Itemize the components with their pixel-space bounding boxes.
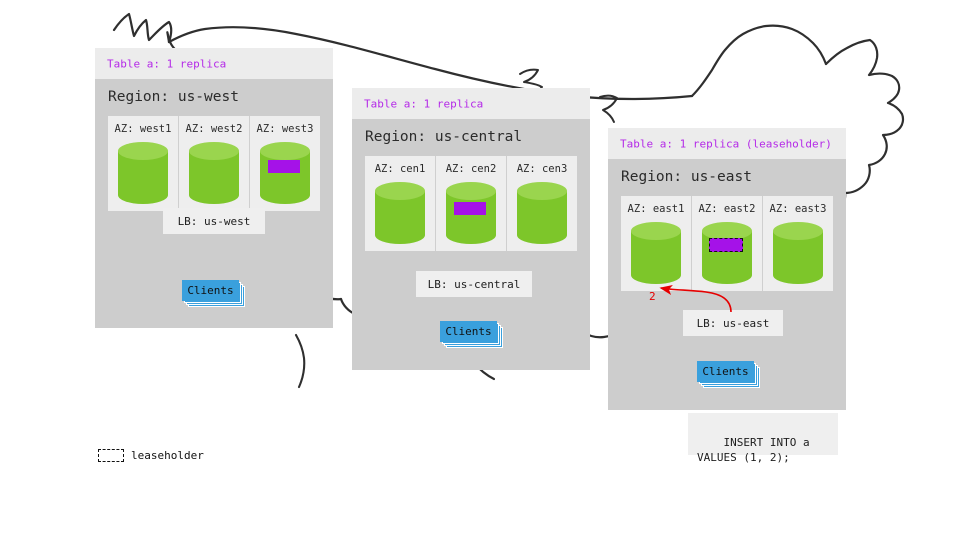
az-cell-east3[interactable]: AZ: east3 (762, 196, 833, 291)
node-cylinder-west3[interactable] (260, 142, 310, 204)
table-replica-label: Table a: 1 replica (364, 97, 483, 110)
az-label: AZ: west3 (250, 123, 320, 135)
region-title: Region: us-west (108, 89, 239, 105)
arrow-step-label: 2 (649, 290, 656, 303)
table-replica-label: Table a: 1 replica (leaseholder) (620, 137, 832, 150)
sql-statement-box: INSERT INTO a VALUES (1, 2); (688, 413, 838, 455)
clients-label: Clients (187, 284, 233, 297)
table-replica-label: Table a: 1 replica (107, 57, 226, 70)
node-cylinder-east2[interactable] (702, 222, 752, 284)
az-cell-cen3[interactable]: AZ: cen3 (506, 156, 577, 251)
region-panel-us-east: Table a: 1 replica (leaseholder) Region:… (608, 128, 846, 410)
az-strip-us-east: AZ: east1 AZ: east2 (621, 196, 833, 291)
clients-button[interactable]: Clients (697, 361, 754, 382)
az-label: AZ: cen2 (436, 163, 506, 175)
clients-label: Clients (445, 325, 491, 338)
clients-button[interactable]: Clients (440, 321, 497, 342)
node-cylinder-west1[interactable] (118, 142, 168, 204)
az-label: AZ: east2 (692, 203, 762, 215)
az-cell-cen1[interactable]: AZ: cen1 (365, 156, 435, 251)
replica-marker (454, 202, 486, 215)
leaseholder-swatch-icon (98, 449, 124, 462)
node-cylinder-cen2[interactable] (446, 182, 496, 244)
region-panel-us-west: Table a: 1 replica Region: us-west AZ: w… (95, 48, 333, 328)
panel-header-us-east: Table a: 1 replica (leaseholder) (608, 128, 846, 159)
diagram-canvas: Table a: 1 replica Region: us-west AZ: w… (0, 0, 960, 540)
replica-marker (268, 160, 300, 173)
legend-label: leaseholder (131, 449, 204, 462)
replica-marker-leaseholder (709, 238, 743, 252)
az-cell-cen2[interactable]: AZ: cen2 (435, 156, 506, 251)
cylinder-top (631, 222, 681, 240)
az-label: AZ: east1 (621, 203, 691, 215)
cylinder-top (189, 142, 239, 160)
az-label: AZ: cen1 (365, 163, 435, 175)
az-label: AZ: cen3 (507, 163, 577, 175)
az-cell-east2[interactable]: AZ: east2 (691, 196, 762, 291)
cylinder-top (517, 182, 567, 200)
panel-header-us-central: Table a: 1 replica (352, 88, 590, 119)
cylinder-top (446, 182, 496, 200)
az-label: AZ: west1 (108, 123, 178, 135)
az-cell-west3[interactable]: AZ: west3 (249, 116, 320, 211)
clients-label: Clients (702, 365, 748, 378)
cylinder-top (773, 222, 823, 240)
clients-stack-us-central[interactable]: Clients (440, 321, 506, 349)
lb-label: LB: us-central (428, 278, 521, 291)
lb-label: LB: us-west (178, 215, 251, 228)
clients-stack-us-east[interactable]: Clients (697, 361, 763, 389)
node-cylinder-cen1[interactable] (375, 182, 425, 244)
node-cylinder-east1[interactable] (631, 222, 681, 284)
node-cylinder-west2[interactable] (189, 142, 239, 204)
az-strip-us-west: AZ: west1 AZ: west2 AZ (108, 116, 320, 211)
node-cylinder-cen3[interactable] (517, 182, 567, 244)
az-label: AZ: east3 (763, 203, 833, 215)
load-balancer-us-west[interactable]: LB: us-west (163, 208, 265, 234)
cylinder-top (118, 142, 168, 160)
node-cylinder-east3[interactable] (773, 222, 823, 284)
az-label: AZ: west2 (179, 123, 249, 135)
az-cell-west2[interactable]: AZ: west2 (178, 116, 249, 211)
cylinder-top (375, 182, 425, 200)
lb-label: LB: us-east (697, 317, 770, 330)
region-panel-us-central: Table a: 1 replica Region: us-central AZ… (352, 88, 590, 370)
az-cell-east1[interactable]: AZ: east1 (621, 196, 691, 291)
panel-header-us-west: Table a: 1 replica (95, 48, 333, 79)
clients-stack-us-west[interactable]: Clients (182, 280, 248, 308)
az-cell-west1[interactable]: AZ: west1 (108, 116, 178, 211)
cylinder-top (260, 142, 310, 160)
load-balancer-us-east[interactable]: LB: us-east (683, 310, 783, 336)
az-strip-us-central: AZ: cen1 AZ: cen2 (365, 156, 577, 251)
region-title: Region: us-east (621, 169, 752, 185)
region-title: Region: us-central (365, 129, 522, 145)
clients-button[interactable]: Clients (182, 280, 239, 301)
load-balancer-us-central[interactable]: LB: us-central (416, 271, 532, 297)
legend: leaseholder (98, 449, 204, 462)
